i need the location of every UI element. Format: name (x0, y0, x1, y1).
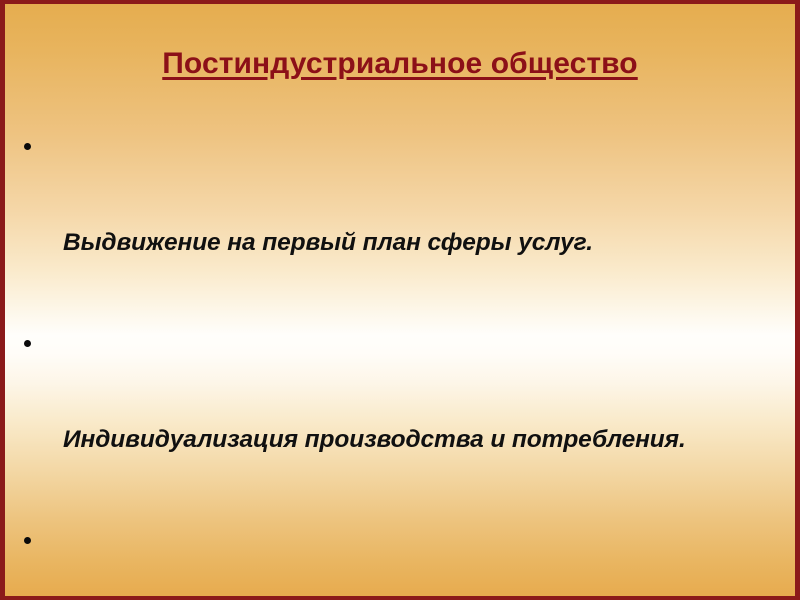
slide-title-block: Постиндустриальное общество (5, 46, 795, 82)
bullet-text: Индивидуализация производства и потребле… (63, 424, 774, 456)
list-item: Выдвижение на первый план сферы услуг. (14, 131, 774, 323)
bullet-dot-icon (24, 143, 31, 150)
page-title: Постиндустриальное общество (162, 46, 637, 82)
list-item: Ведущая роль науки, знаний и информации … (14, 525, 774, 600)
list-item: Индивидуализация производства и потребле… (14, 328, 774, 520)
bullet-list: Выдвижение на первый план сферы услуг. И… (14, 131, 774, 600)
bullet-dot-icon (24, 537, 31, 544)
presentation-slide: Постиндустриальное общество Выдвижение н… (0, 0, 800, 600)
bullet-dot-icon (24, 340, 31, 347)
bullet-text: Выдвижение на первый план сферы услуг. (63, 227, 774, 259)
